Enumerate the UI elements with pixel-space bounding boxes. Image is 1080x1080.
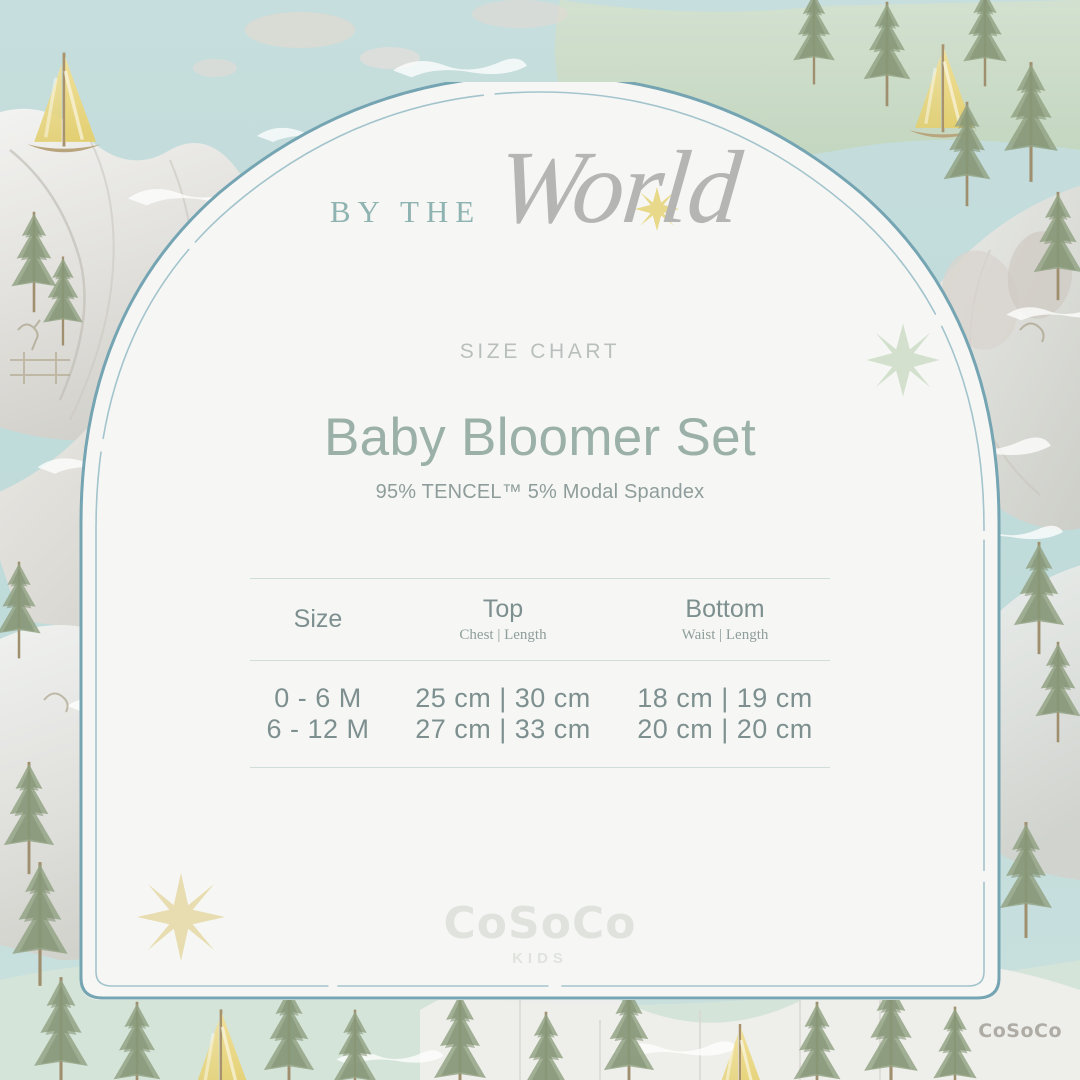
cell-top: 25 cm | 30 cm xyxy=(386,661,620,715)
size-chart-card: BY THE World SIZE CHART Baby Bloomer Set… xyxy=(78,82,1002,1002)
column-header-bottom: Bottom Waist | Length xyxy=(620,579,830,661)
star-burst-icon xyxy=(865,322,941,398)
footer-logo: CoSoCo KIDS xyxy=(78,902,1002,967)
table-header: Size Top Chest | Length Bottom Waist | L… xyxy=(250,579,830,661)
column-header-top: Top Chest | Length xyxy=(386,579,620,661)
cell-size: 6 - 12 M xyxy=(250,714,386,768)
corner-watermark: CoSoCo xyxy=(978,1020,1062,1042)
cell-top: 27 cm | 33 cm xyxy=(386,714,620,768)
column-header-top-sub: Chest | Length xyxy=(386,627,620,644)
page-title: Baby Bloomer Set xyxy=(78,407,1002,468)
column-header-bottom-sub: Waist | Length xyxy=(620,627,830,644)
footer-tagline: KIDS xyxy=(78,950,1002,967)
column-header-size-label: Size xyxy=(250,605,386,634)
brand-line-world: World xyxy=(492,136,743,240)
brand-line-by-the: BY THE xyxy=(330,194,481,230)
table-row: 0 - 6 M 25 cm | 30 cm 18 cm | 19 cm xyxy=(250,661,830,715)
footer-wordmark: CoSoCo xyxy=(78,902,1002,946)
cell-bottom: 18 cm | 19 cm xyxy=(620,661,830,715)
size-chart-graphic: BY THE World SIZE CHART Baby Bloomer Set… xyxy=(0,0,1080,1080)
cell-bottom: 20 cm | 20 cm xyxy=(620,714,830,768)
column-header-top-label: Top xyxy=(386,595,620,624)
column-header-size: Size xyxy=(250,579,386,661)
table-body: 0 - 6 M 25 cm | 30 cm 18 cm | 19 cm 6 - … xyxy=(250,661,830,768)
column-header-bottom-label: Bottom xyxy=(620,595,830,624)
table-row: 6 - 12 M 27 cm | 33 cm 20 cm | 20 cm xyxy=(250,714,830,768)
cell-size: 0 - 6 M xyxy=(250,661,386,715)
material-composition: 95% TENCEL™ 5% Modal Spandex xyxy=(78,481,1002,504)
size-chart-table: Size Top Chest | Length Bottom Waist | L… xyxy=(250,578,830,768)
size-chart-eyebrow: SIZE CHART xyxy=(78,340,1002,364)
table-header-row: Size Top Chest | Length Bottom Waist | L… xyxy=(250,579,830,661)
brand-logo: BY THE World xyxy=(78,138,1002,240)
